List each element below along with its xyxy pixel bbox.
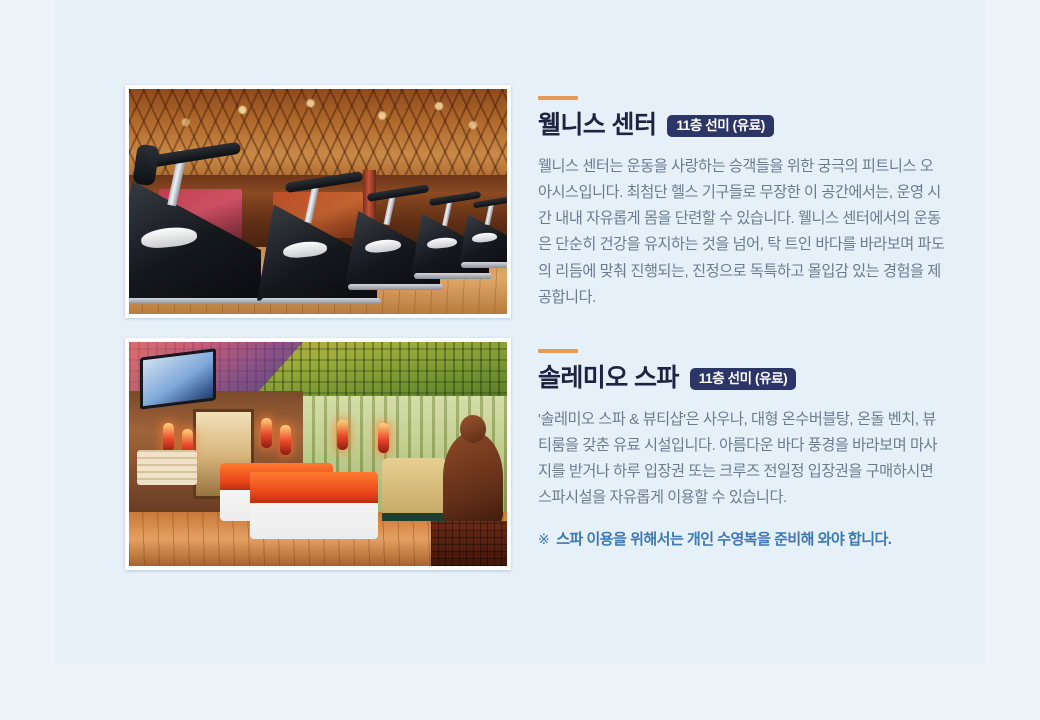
section-wellness: 웰니스 센터 11층 선미 (유료) 웰니스 센터는 운동을 사랑하는 승객들을… — [125, 85, 946, 318]
wellness-heading-row: 웰니스 센터 11층 선미 (유료) — [538, 112, 946, 140]
spa-lantern — [280, 425, 291, 455]
spa-heading-row: 솔레미오 스파 11층 선미 (유료) — [538, 365, 946, 393]
spa-text-column: 솔레미오 스파 11층 선미 (유료) '솔레미오 스파 & 뷰티샵'은 사우나… — [538, 338, 946, 551]
section-spa: 솔레미오 스파 11층 선미 (유료) '솔레미오 스파 & 뷰티샵'은 사우나… — [125, 338, 946, 570]
wellness-description: 웰니스 센터는 운동을 사랑하는 승객들을 위한 궁극의 피트니스 오아시스입니… — [538, 154, 946, 312]
spa-towel-stack — [137, 450, 197, 486]
wellness-photo-image — [129, 89, 507, 314]
gym-spinning-bikes — [129, 89, 507, 314]
spa-description: '솔레미오 스파 & 뷰티샵'은 사우나, 대형 온수버블탕, 온돌 벤치, 뷰… — [538, 407, 946, 512]
status-badge: 11층 선미 (유료) — [690, 368, 796, 391]
accent-bar — [538, 96, 578, 100]
spa-note: ※ 스파 이용을 위해서는 개인 수영복을 준비해 와야 합니다. — [538, 529, 946, 552]
spa-lantern — [378, 423, 389, 453]
status-badge: 11층 선미 (유료) — [667, 115, 773, 138]
spa-photo — [125, 338, 511, 570]
spa-lantern — [337, 420, 348, 450]
wellness-photo — [125, 85, 511, 318]
spa-tv-screen — [140, 349, 216, 410]
page-title: 웰니스 센터 — [538, 112, 656, 140]
wellness-text-column: 웰니스 센터 11층 선미 (유료) 웰니스 센터는 운동을 사랑하는 승객들을… — [538, 85, 946, 311]
spa-pedestal — [431, 521, 507, 566]
spin-bike — [459, 185, 507, 265]
accent-bar — [538, 349, 578, 353]
spa-massage-bed — [250, 472, 379, 539]
spa-armchair — [382, 458, 446, 521]
spa-lantern — [163, 423, 174, 453]
asterisk-icon: ※ — [538, 529, 549, 551]
page-title: 솔레미오 스파 — [538, 365, 679, 393]
spa-photo-image — [129, 342, 507, 566]
spa-buddha-statue — [443, 432, 503, 526]
spa-lantern — [261, 418, 272, 448]
spa-note-text: 스파 이용을 위해서는 개인 수영복을 준비해 와야 합니다. — [556, 529, 891, 552]
